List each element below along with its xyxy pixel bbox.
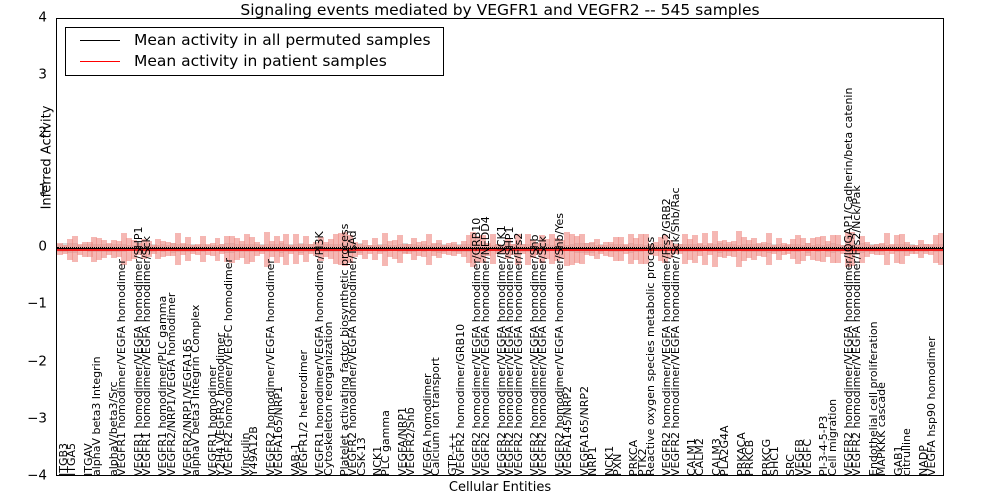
- y-axis-label: Inferred Activity: [40, 73, 55, 243]
- x-tick-label: VEGFR2/Shb: [405, 407, 416, 476]
- y-tick-label: −4: [0, 469, 56, 483]
- x-tick-label: Y49A12B: [248, 426, 259, 476]
- x-tick-label: VEGFA165/NRP1: [273, 386, 284, 476]
- x-tick-label: PLC gamma: [381, 410, 392, 476]
- x-tick-label: VEGFR1 homodimer/VEGFA homodimer/Sck: [141, 236, 152, 476]
- x-tick-label: VEGFR2/NRP1/VEGFA homodimer: [166, 293, 177, 476]
- x-axis-label: Cellular Entities: [55, 480, 945, 495]
- y-tick-label: 0: [0, 240, 56, 254]
- x-tick-label: VEGFA hsp90 homodimer: [926, 336, 937, 476]
- x-tick-label: Cell migration: [827, 399, 838, 476]
- x-tick-label: VEGFR2 homodimer/VEGFC homodimer: [223, 258, 234, 476]
- x-tick-label: VEGFC: [802, 439, 813, 476]
- x-tick-label: VEGFR2 homodimer/VEGFA homodimer/Sck: [538, 236, 549, 476]
- legend-label-patient: Mean activity in patient samples: [134, 54, 387, 70]
- x-tick-label: PXN: [612, 454, 623, 476]
- x-tick-label: ITGA5: [66, 443, 77, 476]
- x-tick-label: VEGFR1 homodimer/VEGFA homodimer: [116, 259, 127, 476]
- x-tick-label: VEGFA145/NRP2: [562, 386, 573, 476]
- x-tick-label: VEGFR2 homodimer/VEGFA homodimer/Sck/Shb…: [670, 187, 681, 476]
- x-tick-label: PLA2G4A: [719, 425, 730, 476]
- x-tick-label: VEGFR2 homodimer/GRB10: [455, 324, 466, 476]
- x-tick-label: PRKCB: [744, 440, 755, 476]
- y-tick-label: −3: [0, 412, 56, 426]
- x-tick-label: Reactive oxygen species metabolic proces…: [645, 237, 656, 476]
- legend-item-permuted: Mean activity in all permuted samples: [74, 33, 431, 49]
- x-tick-label: VEGFR2 homodimer/VEGFA homodimer/Frs2: [513, 233, 524, 476]
- y-tick-label: −2: [0, 355, 56, 369]
- y-tick-label: 1: [0, 183, 56, 197]
- x-tick-label: SHC1: [769, 446, 780, 476]
- legend-line-black-icon: [80, 40, 120, 41]
- x-tick-label: NRP1: [587, 446, 598, 476]
- legend: Mean activity in all permuted samples Me…: [65, 27, 444, 76]
- x-tick-label: MAPKKK cascade: [876, 382, 887, 476]
- legend-item-patient: Mean activity in patient samples: [74, 54, 431, 70]
- y-tick-label: −1: [0, 298, 56, 312]
- y-tick-label: 3: [0, 69, 56, 83]
- x-tick-label: citrulline: [901, 428, 912, 476]
- x-tick-label: Cytoskeleton reorganization: [323, 322, 334, 477]
- y-tick-label: 2: [0, 126, 56, 140]
- y-tick-label: 4: [0, 11, 56, 25]
- legend-label-permuted: Mean activity in all permuted samples: [134, 33, 431, 49]
- x-tick-label: CSK-13: [356, 437, 367, 476]
- x-tick-label: Calcium ion transport: [430, 357, 441, 476]
- chart-root: Signaling events mediated by VEGFR1 and …: [0, 0, 1000, 500]
- x-tick-label: VEGFR1/2 heterodimer: [298, 350, 309, 476]
- x-tick-label: VEGFR2 homodimer/VEGFA homodimer/Frs2/Nc…: [852, 185, 863, 476]
- x-tick-label: CALM2: [695, 438, 706, 476]
- x-tick-label: alphaV beta3 Integrin Complex: [190, 305, 201, 476]
- chart-title: Signaling events mediated by VEGFR1 and …: [55, 1, 945, 19]
- x-tick-label: VEGFR2 homodimer/VEGFA homodimer/NEDD4: [480, 216, 491, 476]
- x-tick-label: alphaV beta3 Integrin: [91, 356, 102, 476]
- legend-line-red-icon: [80, 61, 120, 62]
